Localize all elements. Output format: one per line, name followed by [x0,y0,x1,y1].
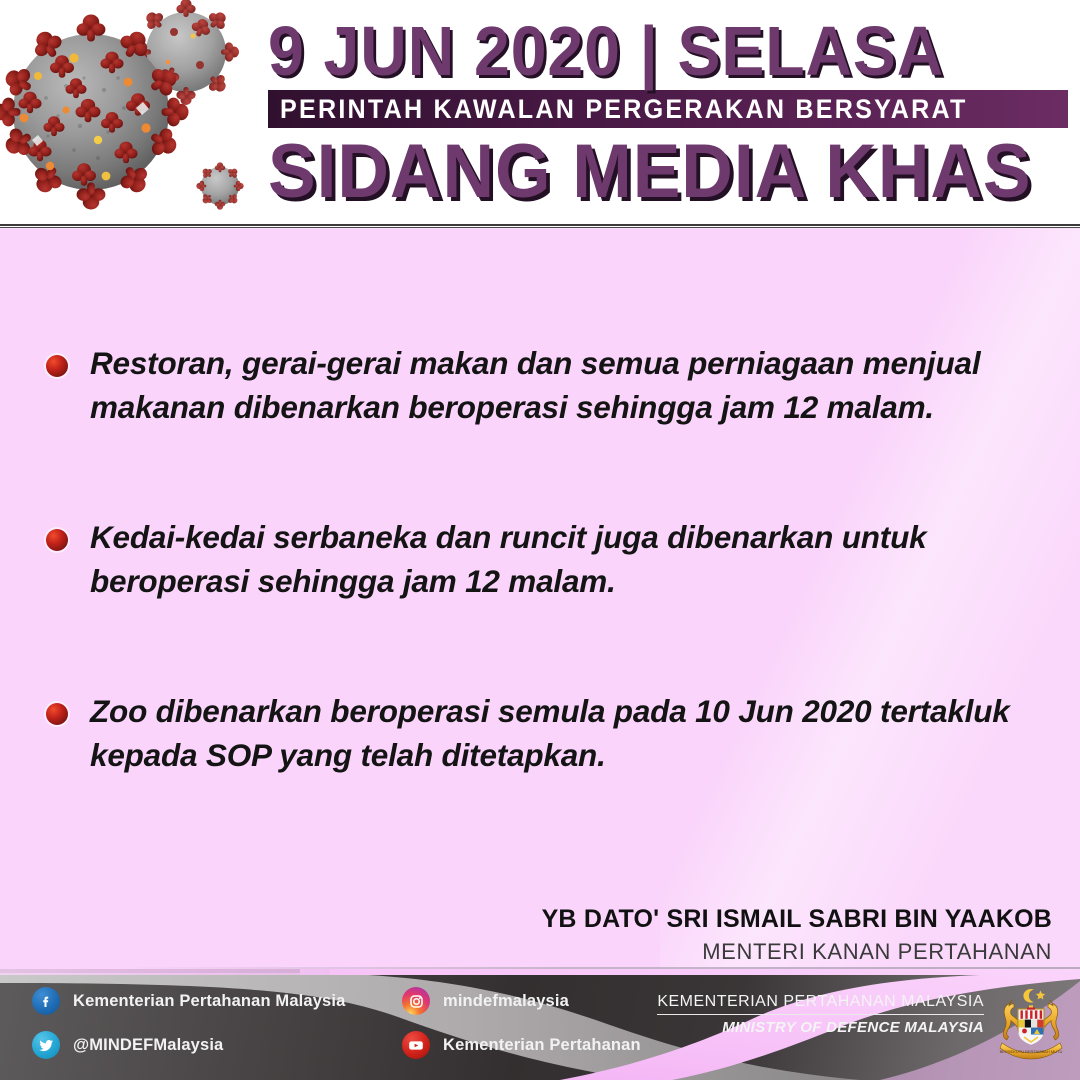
social-column-left: Kementerian Pertahanan Malaysia @MINDEFM… [32,983,345,1071]
social-label: mindefmalaysia [443,992,569,1011]
list-item: Zoo dibenarkan beroperasi semula pada 10… [46,689,1056,777]
social-label: Kementerian Pertahanan [443,1036,641,1055]
bullet-dot-icon [46,703,68,725]
youtube-icon [402,1031,430,1059]
social-column-right: mindefmalaysia Kementerian Pertahanan [402,983,641,1071]
facebook-icon [32,987,60,1015]
svg-text:BERSEKUTU BERTAMBAH MUTU: BERSEKUTU BERTAMBAH MUTU [1000,1049,1063,1054]
social-item-twitter[interactable]: @MINDEFMalaysia [32,1027,345,1063]
bullet-list: Restoran, gerai-gerai makan dan semua pe… [46,341,1056,863]
social-label: Kementerian Pertahanan Malaysia [73,992,345,1011]
header-date: 9 JUN 2020 | SELASA [268,14,1004,88]
header-sub-banner: PERINTAH KAWALAN PERGERAKAN BERSYARAT [268,90,1068,128]
social-item-youtube[interactable]: Kementerian Pertahanan [402,1027,641,1063]
social-item-facebook[interactable]: Kementerian Pertahanan Malaysia [32,983,345,1019]
poster-body: Restoran, gerai-gerai makan dan semua pe… [0,229,1080,969]
instagram-icon [402,987,430,1015]
header-title-block: 9 JUN 2020 | SELASA PERINTAH KAWALAN PER… [268,14,1068,212]
poster-footer: Kementerian Pertahanan Malaysia @MINDEFM… [0,969,1080,1080]
list-item: Restoran, gerai-gerai makan dan semua pe… [46,341,1056,429]
signature-role: MENTERI KANAN PERTAHANAN [542,939,1052,965]
header-divider [0,224,1080,228]
bullet-dot-icon [46,529,68,551]
ministry-name-ms: KEMENTERIAN PERTAHANAN MALAYSIA [657,993,984,1015]
twitter-icon [32,1031,60,1059]
coronavirus-icon [0,0,268,228]
signature-block: YB DATO' SRI ISMAIL SABRI BIN YAAKOB MEN… [542,905,1052,965]
header-sub-banner-text: PERINTAH KAWALAN PERGERAKAN BERSYARAT [280,94,968,125]
ministry-branding: KEMENTERIAN PERTAHANAN MALAYSIA MINISTRY… [657,993,984,1036]
ministry-name-en: MINISTRY OF DEFENCE MALAYSIA [657,1019,984,1036]
list-item: Kedai-kedai serbaneka dan runcit juga di… [46,515,1056,603]
malaysia-coat-of-arms-icon: BERSEKUTU BERTAMBAH MUTU [988,981,1074,1067]
bullet-text: Zoo dibenarkan beroperasi semula pada 10… [90,689,1045,777]
bullet-text: Restoran, gerai-gerai makan dan semua pe… [90,341,1045,429]
header-main-title: SIDANG MEDIA KHAS [268,132,1020,212]
bullet-text: Kedai-kedai serbaneka dan runcit juga di… [90,515,1045,603]
social-item-instagram[interactable]: mindefmalaysia [402,983,641,1019]
signature-name: YB DATO' SRI ISMAIL SABRI BIN YAAKOB [542,905,1052,934]
bullet-dot-icon [46,355,68,377]
poster-root: 9 JUN 2020 | SELASA PERINTAH KAWALAN PER… [0,0,1080,1080]
social-label: @MINDEFMalaysia [73,1036,223,1055]
poster-header: 9 JUN 2020 | SELASA PERINTAH KAWALAN PER… [0,0,1080,228]
